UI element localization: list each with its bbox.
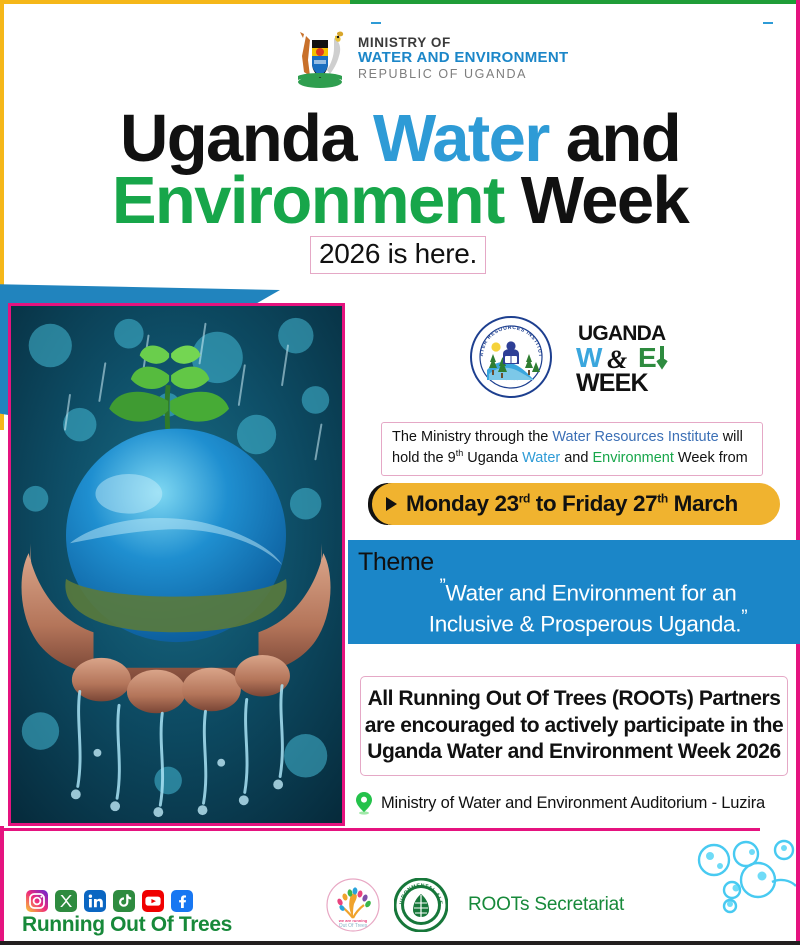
desc-tick-right — [763, 22, 773, 24]
date-middle: to Friday 27 — [530, 491, 657, 516]
ministry-header: MINISTRY OF WATER AND ENVIRONMENT REPUBL… — [292, 26, 568, 90]
event-date-text: Monday 23rd to Friday 27th March — [406, 491, 738, 517]
tiktok-icon[interactable] — [113, 890, 135, 912]
linkedin-icon[interactable] — [84, 890, 106, 912]
we-are-running-out-of-trees-logo: we are running Out Of Trees — [326, 878, 380, 932]
date-sup-1: rd — [519, 492, 530, 506]
theme-label: Theme — [358, 548, 434, 577]
date-sup-2: th — [657, 492, 668, 506]
border-left-magenta — [0, 826, 4, 945]
theme-text: ”Water and Environment for an Inclusive … — [388, 576, 788, 637]
ministry-line-2: WATER AND ENVIRONMENT — [358, 50, 568, 67]
desc-highlight-wri: Water Resources Institute — [552, 429, 718, 445]
poster: MINISTRY OF WATER AND ENVIRONMENT REPUBL… — [0, 0, 800, 945]
roots-secretariat-label: ROOTs Secretariat — [468, 894, 624, 916]
theme-block: Theme ”Water and Environment for an Incl… — [348, 540, 800, 644]
facebook-icon[interactable] — [171, 890, 193, 912]
desc-part-3: Uganda — [463, 450, 522, 466]
water-bubbles-decoration — [680, 838, 796, 918]
venue-text: Ministry of Water and Environment Audito… — [381, 794, 765, 813]
uganda-we-week-logo: UGANDA W & E WEEK — [576, 320, 682, 394]
border-top-green — [348, 0, 800, 4]
border-top-amber — [0, 0, 350, 4]
roots-line-3: Uganda Water and Environment Week 2026 — [367, 740, 781, 763]
footer-divider-magenta — [0, 828, 760, 831]
theme-line-2: Inclusive & Prosperous Uganda. — [429, 611, 741, 636]
desc-highlight-water: Water — [522, 450, 560, 466]
venue-row: Ministry of Water and Environment Audito… — [355, 791, 765, 815]
description-box: The Ministry through the Water Resources… — [381, 422, 763, 476]
roots-brand-text: Running Out Of Trees — [22, 913, 232, 937]
roots-line-1: All Running Out Of Trees (ROOTs) Partner… — [368, 687, 781, 710]
desc-part-5: Week from — [674, 450, 748, 466]
roots-line-2: are encouraged to actively participate i… — [365, 714, 784, 737]
date-suffix: March — [668, 491, 738, 516]
footer-logos: we are running Out Of Trees ENVIRONMENTA… — [326, 878, 624, 932]
border-bottom-dark — [0, 941, 800, 945]
year-note: 2026 is here. — [310, 236, 486, 274]
play-triangle-icon — [386, 497, 397, 511]
desc-part-4: and — [560, 450, 592, 466]
social-icons[interactable] — [26, 890, 193, 912]
logo-row: · WATER RESOURCES INSTITUTE · UGANDA — [470, 316, 682, 398]
page-title: Uganda Water and Environment Week — [0, 108, 800, 231]
ministry-line-3: REPUBLIC OF UGANDA — [358, 67, 568, 81]
title-line-2: Environment Week — [0, 170, 800, 232]
ministry-line-1: MINISTRY OF — [358, 35, 568, 50]
theme-line-1: Water and Environment for an — [446, 581, 737, 606]
desc-part-1: The Ministry through the — [392, 429, 552, 445]
svg-text:WEEK: WEEK — [576, 369, 649, 394]
x-twitter-icon[interactable] — [55, 890, 77, 912]
roots-notice-text: All Running Out Of Trees (ROOTs) Partner… — [365, 686, 784, 767]
location-pin-icon — [355, 791, 373, 815]
title-line-1: Uganda Water and — [0, 108, 800, 170]
environmental-alert-logo: ENVIRONMENTAL ALERT — [394, 878, 448, 932]
event-date-banner: Monday 23rd to Friday 27th March — [372, 483, 780, 525]
theme-quote-close: ” — [741, 607, 747, 628]
water-resources-institute-logo: · WATER RESOURCES INSTITUTE · UGANDA — [470, 316, 552, 398]
youtube-icon[interactable] — [142, 890, 164, 912]
desc-highlight-environment: Environment — [592, 450, 673, 466]
title-word-environment: Environment — [112, 163, 504, 238]
roots-notice-box: All Running Out Of Trees (ROOTs) Partner… — [360, 676, 788, 776]
hands-holding-water-globe-photo — [8, 303, 345, 826]
desc-tick-left — [371, 22, 381, 24]
date-prefix: Monday 23 — [406, 491, 519, 516]
title-word-week: Week — [504, 163, 688, 238]
svg-text:Out Of Trees: Out Of Trees — [339, 923, 368, 929]
uganda-coat-of-arms-icon — [292, 26, 348, 90]
instagram-icon[interactable] — [26, 890, 48, 912]
